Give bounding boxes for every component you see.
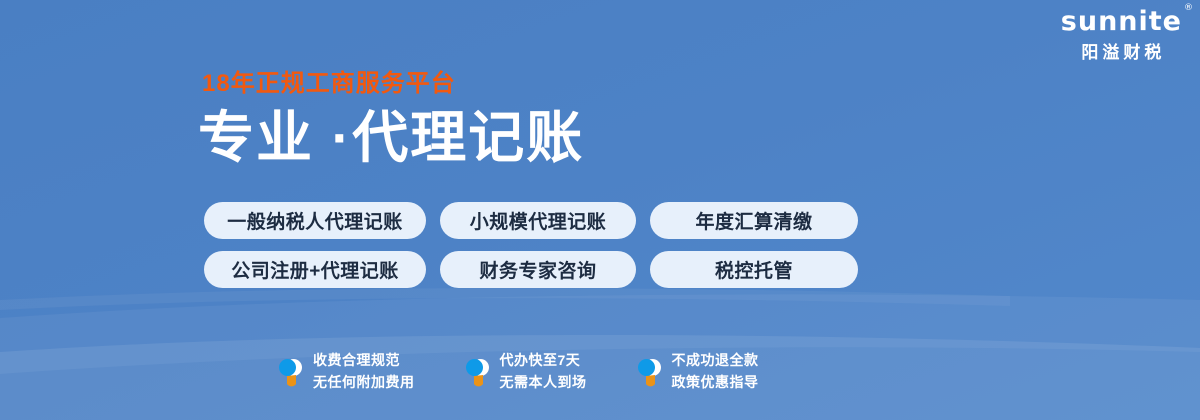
blue-orange-dot-icon [635,356,663,388]
service-tag-group: 一般纳税人代理记账 小规模代理记账 年度汇算清缴 公司注册+代理记账 财务专家咨… [204,202,858,300]
tag-tax-control-hosting[interactable]: 税控托管 [650,251,858,288]
feature-strip: 收费合理规范 无任何附加费用 代办快至7天 无需本人到场 [276,350,759,393]
brand-logo[interactable]: sunnite ® 阳溢财税 [1061,8,1182,61]
blue-orange-dot-icon [463,356,491,388]
page-title: 专业 ·代理记账 [198,110,584,166]
tag-general-taxpayer-bookkeeping[interactable]: 一般纳税人代理记账 [204,202,426,239]
eyebrow-text: 18年正规工商服务平台 [202,72,584,96]
feature-line-2: 政策优惠指导 [672,372,759,394]
blue-orange-dot-icon [276,356,304,388]
tag-company-registration-bookkeeping[interactable]: 公司注册+代理记账 [204,251,426,288]
feature-line-1: 代办快至7天 [500,350,587,372]
feature-text-guarantee: 不成功退全款 政策优惠指导 [672,350,759,393]
promo-banner: sunnite ® 阳溢财税 18年正规工商服务平台 专业 ·代理记账 一般纳税… [0,0,1200,420]
feature-line-1: 收费合理规范 [313,350,415,372]
feature-line-2: 无任何附加费用 [313,372,415,394]
feature-line-1: 不成功退全款 [672,350,759,372]
feature-text-speed: 代办快至7天 无需本人到场 [500,350,587,393]
tag-row-2: 公司注册+代理记账 财务专家咨询 税控托管 [204,251,858,288]
feature-text-pricing: 收费合理规范 无任何附加费用 [313,350,415,393]
feature-line-2: 无需本人到场 [500,372,587,394]
tag-annual-settlement[interactable]: 年度汇算清缴 [650,202,858,239]
tag-row-1: 一般纳税人代理记账 小规模代理记账 年度汇算清缴 [204,202,858,239]
tag-finance-expert-consulting[interactable]: 财务专家咨询 [440,251,636,288]
tag-small-scale-bookkeeping[interactable]: 小规模代理记账 [440,202,636,239]
feature-item-guarantee: 不成功退全款 政策优惠指导 [635,350,759,393]
registered-trademark-icon: ® [1184,4,1193,13]
feature-item-speed: 代办快至7天 无需本人到场 [463,350,587,393]
headline-block: 18年正规工商服务平台 专业 ·代理记账 [198,72,584,166]
feature-item-pricing: 收费合理规范 无任何附加费用 [276,350,415,393]
logo-wordmark-text: sunnite [1061,6,1182,37]
logo-chinese-name: 阳溢财税 [1061,44,1182,61]
logo-wordmark: sunnite ® [1061,8,1182,35]
